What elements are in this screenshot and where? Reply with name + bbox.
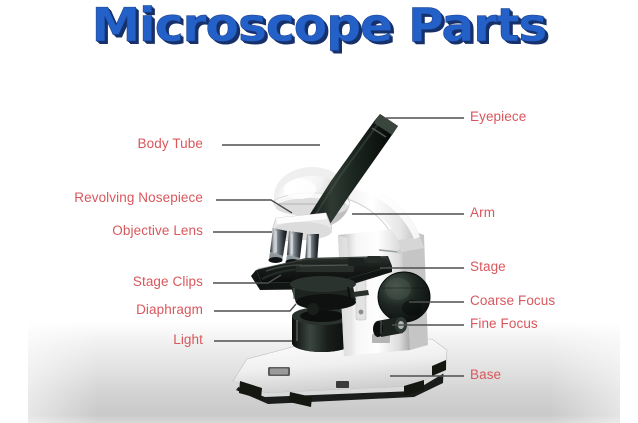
label-eyepiece: Eyepiece xyxy=(470,109,526,124)
label-arm: Arm xyxy=(470,205,495,220)
label-fine-focus: Fine Focus xyxy=(470,316,538,331)
label-objective-lens: Objective Lens xyxy=(0,223,203,238)
label-coarse-focus: Coarse Focus xyxy=(470,293,555,308)
label-base: Base xyxy=(470,367,501,382)
microscope-illustration xyxy=(0,0,638,423)
label-revolving-nosepiece: Revolving Nosepiece xyxy=(0,190,203,205)
diagram-canvas: Microscope Parts xyxy=(0,0,638,423)
label-stage-clips: Stage Clips xyxy=(0,274,203,289)
label-stage: Stage xyxy=(470,259,506,274)
coarse-focus-knob xyxy=(378,272,430,322)
label-body-tube: Body Tube xyxy=(0,136,203,151)
label-diaphragm: Diaphragm xyxy=(0,302,203,317)
label-light: Light xyxy=(0,332,203,347)
